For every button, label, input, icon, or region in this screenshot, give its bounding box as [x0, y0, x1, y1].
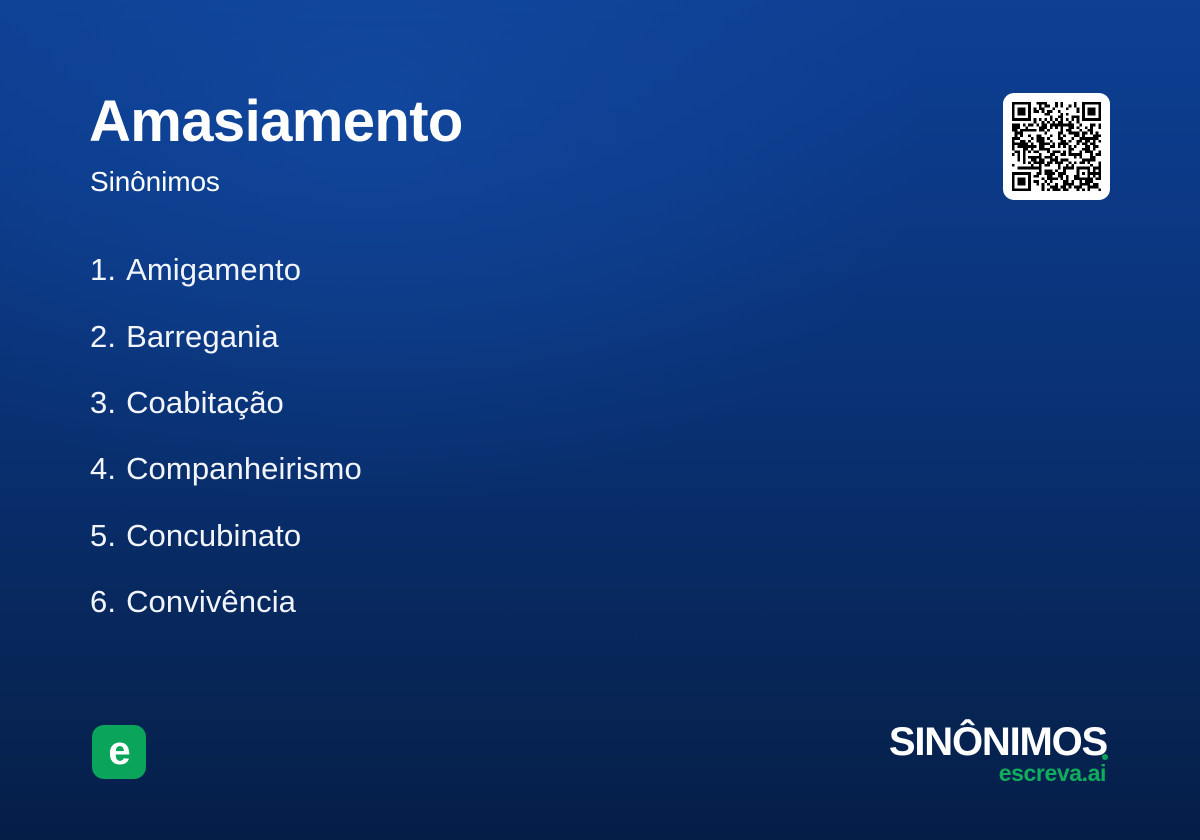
list-item-label: Coabitação: [126, 385, 284, 421]
list-item: 6. Convivência: [90, 569, 890, 635]
synonym-card: Amasiamento Sinônimos 1. Amigamento 2. B…: [0, 0, 1200, 840]
qr-code[interactable]: [1003, 93, 1110, 200]
list-item: 5. Concubinato: [90, 503, 890, 569]
synonym-list: 1. Amigamento 2. Barregania 3. Coabitaçã…: [90, 237, 890, 635]
escreva-e-letter: e: [108, 731, 129, 771]
brand-site: escreva.ai: [889, 762, 1106, 785]
list-item-index: 1.: [90, 252, 116, 288]
list-item-label: Companheirismo: [126, 451, 362, 487]
list-item-label: Convivência: [126, 584, 296, 620]
escreva-e-logo-icon[interactable]: e: [92, 725, 146, 779]
list-item: 2. Barregania: [90, 303, 890, 369]
list-item-index: 6.: [90, 584, 116, 620]
list-item-index: 3.: [90, 385, 116, 421]
brand-dot-icon: [1102, 754, 1108, 760]
list-item-index: 5.: [90, 518, 116, 554]
qr-code-icon: [1012, 102, 1101, 191]
list-item-label: Barregania: [126, 319, 279, 355]
list-item-index: 2.: [90, 319, 116, 355]
list-item: 3. Coabitação: [90, 370, 890, 436]
page-title: Amasiamento: [89, 92, 463, 153]
list-item: 1. Amigamento: [90, 237, 890, 303]
page-subtitle: Sinônimos: [90, 167, 220, 198]
brand-lockup: SINÔNIMOS escreva.ai: [889, 723, 1107, 785]
list-item-label: Concubinato: [126, 518, 301, 554]
list-item-label: Amigamento: [126, 252, 301, 288]
brand-name: SINÔNIMOS: [889, 723, 1107, 761]
list-item: 4. Companheirismo: [90, 436, 890, 502]
list-item-index: 4.: [90, 451, 116, 487]
